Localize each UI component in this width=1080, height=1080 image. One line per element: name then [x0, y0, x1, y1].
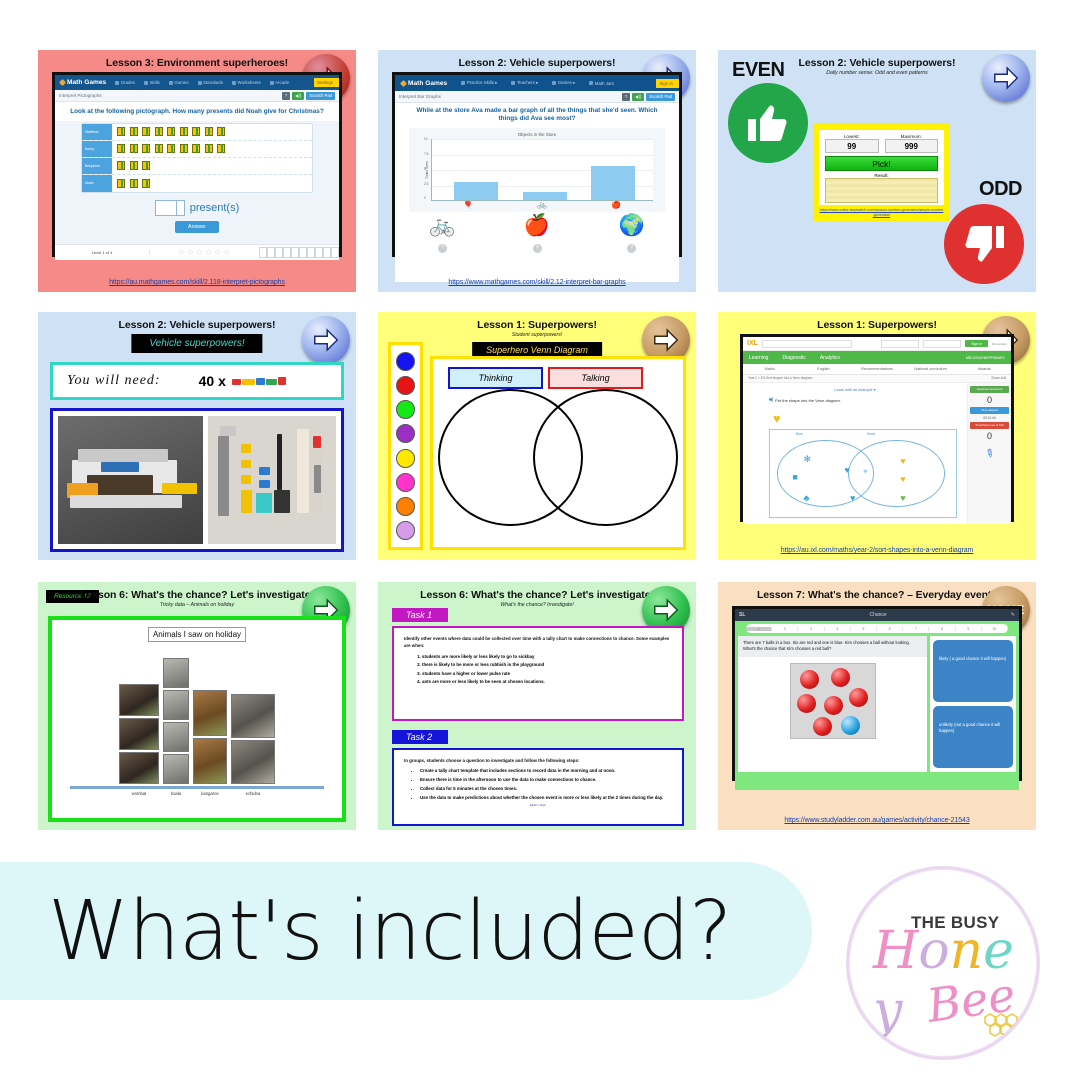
studyladder-screenshot: SL Chance ✎ 1 2 3 4 5 6 7 8 9 1 [732, 606, 1022, 781]
swatch-red[interactable] [396, 376, 415, 395]
swatch-yellow[interactable] [396, 449, 415, 468]
source-url[interactable]: https://au.ixl.com/maths/year-2/sort-sha… [718, 547, 1036, 554]
venn-label-thinking: Thinking [448, 367, 543, 389]
answer-input[interactable] [155, 200, 185, 216]
skill-name: Interpret Pictographs [59, 93, 102, 98]
answer-option-likely[interactable]: likely ( a good chance it will happen) [933, 640, 1013, 702]
row-icons [112, 127, 225, 136]
window-title: Chance [745, 612, 1010, 618]
mathgames-navbar: Math Games Grades Skills Games Standards… [55, 75, 339, 90]
pictograph-row: Benjamin [82, 158, 312, 175]
even-label: EVEN [732, 59, 784, 82]
bar-chart: Objects in the Store Times Seen 10 7.5 5… [409, 128, 665, 212]
task1-intro: Identify other events where data could b… [404, 636, 672, 650]
choice-marker-icon[interactable]: ? [438, 244, 447, 253]
choice-marker-icon[interactable]: ? [533, 244, 542, 253]
next-arrow-button[interactable] [982, 54, 1030, 102]
nav-games[interactable]: Games [169, 80, 189, 85]
column-echidna [231, 694, 275, 784]
studyladder-body: 1 2 3 4 5 6 7 8 9 10 There are 7 balls i… [735, 621, 1019, 790]
ixl-question-area: Learn with an example ▾ Put the shape in… [743, 383, 1011, 524]
source-url[interactable]: https://www.mathgames.com/skill/2.12-int… [378, 279, 696, 286]
tool-pills: ? ◀)) Scratch Pad [622, 93, 675, 101]
nav-skills[interactable]: Skills [144, 80, 160, 85]
task1-box: Identify other events where data could b… [392, 626, 684, 721]
source-url[interactable]: https://au.mathgames.com/skill/2.118-int… [38, 279, 356, 286]
list-item: Create a tally chart template that inclu… [420, 768, 672, 774]
learn-with-example-link[interactable]: Learn with an example ▾ [743, 387, 967, 392]
lego-bricks-icon [232, 377, 286, 385]
time-elapsed-label: Time elapsed [970, 407, 1009, 414]
page-selector[interactable]: 1 2 3 4 5 6 7 8 9 10 [746, 624, 1008, 633]
list-item: Collect data for 5 minutes at the chosen… [420, 786, 672, 792]
materials-label: You will need: [67, 373, 161, 389]
answer-row: present(s) [55, 200, 339, 216]
help-icon[interactable]: ? [282, 92, 290, 100]
list-item: Use the data to make predictions about w… [420, 795, 672, 801]
account-name[interactable]: MELBOURNEPRIMARY [966, 356, 1005, 360]
lego-vehicle-photo [58, 416, 203, 544]
nav-learning[interactable]: Learning [749, 355, 768, 361]
list-item: ants are more or less likely to be seen … [422, 679, 672, 684]
task2-intro: In groups, students choose a question to… [404, 758, 672, 765]
page-item[interactable]: 8 [929, 627, 955, 631]
bar-bicycle [523, 192, 567, 200]
task2-list: Create a tally chart template that inclu… [420, 768, 672, 801]
ixl-sidebar: Questions answered 0 Time elapsed 00 01 … [967, 383, 1011, 524]
pictograph: Matthew Avery Benjamin [81, 123, 313, 193]
nav-diagnostic[interactable]: Diagnostic [782, 355, 805, 361]
answer-button[interactable]: Answer [175, 221, 219, 233]
tab-english[interactable]: English [797, 367, 851, 371]
remember-checkbox[interactable]: Remember [992, 342, 1007, 346]
question-text: While at the store Ava made a bar graph … [395, 103, 679, 124]
answer-choices: 🚲 🍎 🌍 [395, 214, 679, 238]
lego-photos [50, 408, 344, 552]
signin-button[interactable]: Sign in [965, 340, 988, 347]
result-display [825, 178, 938, 203]
task1-tab: Task 1 [392, 608, 448, 622]
answer-unit: present(s) [190, 202, 240, 214]
tab-maths[interactable]: Maths [743, 367, 797, 371]
time-elapsed-value: 00 01 44 [970, 416, 1009, 420]
nav-standards[interactable]: Standards [198, 80, 224, 85]
ixl-subject-tabs: Maths English Recommendations National c… [743, 364, 1011, 375]
questions-answered-value: 0 [970, 395, 1009, 405]
shape-square-icon[interactable]: ■ [792, 472, 797, 482]
card-lesson2-bargraph: Lesson 2: Vehicle superpowers! Math Game… [378, 50, 696, 292]
swatch-magenta[interactable] [396, 473, 415, 492]
share-skill-link[interactable]: Share skill [991, 376, 1006, 380]
list-item: Ensure there is time in the afternoon to… [420, 777, 672, 783]
nav-practice-skills[interactable]: Practice Skills ▸ [461, 80, 497, 86]
maximum-input[interactable]: 999 [885, 139, 939, 153]
page-item[interactable]: 7 [903, 627, 929, 631]
brand-logo: THE BUSY Honey Bee [846, 866, 1040, 1060]
label-kangaroo: kangaroo [193, 791, 227, 796]
thumbs-up-icon [728, 83, 808, 163]
search-input[interactable] [762, 340, 852, 348]
shape-heart-yellow-icon[interactable]: ♥ [900, 456, 905, 466]
column-wombat [119, 684, 159, 784]
logo-letter-y: y [873, 981, 902, 1041]
venn-diagram[interactable]: Blue Heart ✻ ■ ♣ ♥ ♥ ♥ ♥ ♥ ♥ [769, 429, 957, 518]
swatch-orange[interactable] [396, 497, 415, 516]
sound-icon[interactable]: ◀)) [632, 93, 644, 101]
x-axis [70, 786, 324, 789]
lego-parts-photo [208, 416, 336, 544]
row-label: Avery [82, 141, 112, 157]
scratch-pad-button[interactable]: Scratch Pad [306, 92, 335, 100]
ixl-screenshot: IXL Sign in Remember Learning Diagnostic… [740, 334, 1014, 522]
venn-circle-right [533, 389, 678, 526]
mathgames-screenshot: Math Games Grades Skills Games Standards… [52, 72, 342, 257]
mathgames-logo: Math Games [401, 80, 447, 87]
shape-snowflake-icon[interactable]: ✻ [803, 454, 811, 465]
pictograph-row: Avery [82, 141, 312, 158]
bar-apple [591, 166, 635, 200]
instruction-text: Put the shape into the Venn diagram. [769, 397, 967, 403]
nav-grades[interactable]: Grades [115, 80, 135, 85]
shape-heart-green-icon[interactable]: ♥ [900, 493, 905, 503]
credit-text: Edwin's Team [404, 804, 672, 807]
settings-button[interactable]: Settings [314, 78, 339, 87]
question-panel: There are 7 balls in a box. Six are red … [738, 636, 927, 772]
page-item[interactable]: 2 [772, 627, 798, 631]
shape-heart-yellow-icon[interactable]: ♥ [900, 474, 905, 484]
smartscore-label: SmartScore out of 100 [970, 422, 1009, 429]
list-item: students are more likely or less likely … [422, 654, 672, 659]
logo-letter-o: o [918, 921, 949, 981]
question-text: There are 7 balls in a box. Six are red … [738, 636, 927, 657]
tool-pills: ? ◀)) Scratch Pad [282, 92, 335, 100]
row-label: Noah [82, 175, 112, 192]
task1-list: students are more likely or less likely … [422, 654, 672, 685]
nav-arcade[interactable]: Arcade [270, 80, 289, 85]
card-lesson1-ixl: Lesson 1: Superpowers! IXL Sign in Remem… [718, 312, 1036, 560]
chart-title: Animals I saw on holiday [148, 627, 246, 642]
swatch-lavender[interactable] [396, 521, 415, 540]
card-lesson1-venn-worksheet: Lesson 1: Superpowers! Student superpowe… [378, 312, 696, 560]
honeycomb-icon [979, 1009, 1021, 1041]
banner-heading: What's included? [48, 884, 731, 979]
logo-letter-h: H [873, 921, 918, 981]
skill-bar: Interpret Bar Graphs ? ◀)) Scratch Pad [395, 91, 679, 103]
sound-icon[interactable]: ◀)) [292, 92, 304, 100]
task2-tab: Task 2 [392, 730, 448, 744]
venn-diagram: Thinking Talking [430, 356, 686, 550]
row-icons [112, 161, 150, 170]
column-koala [163, 658, 189, 784]
source-url[interactable]: https://www.studyladder.com.au/games/act… [718, 817, 1036, 824]
pictograph-frame: Animals I saw on holiday [48, 616, 346, 822]
y-tick: 5 [424, 167, 426, 171]
black-banner: Vehicle superpowers! [131, 334, 262, 353]
x-tick-bicycle: 🚲 [505, 201, 579, 210]
nav-worksheets[interactable]: Worksheets [232, 80, 261, 85]
page-item[interactable]: 10 [982, 627, 1008, 631]
page-item[interactable]: 1 [746, 627, 772, 631]
column-kangaroo [193, 690, 227, 784]
y-tick: 0 [424, 196, 426, 200]
question-text: Look at the following pictograph. How ma… [55, 102, 339, 121]
list-item: there is likely to be more or less rubbi… [422, 662, 672, 667]
poster: Lesson 3: Environment superheroes! Math … [0, 0, 1080, 1080]
row-label: Benjamin [82, 158, 112, 174]
list-item: students have a higher or lower pulse ra… [422, 671, 672, 676]
shape-heart-lightblue-icon[interactable]: ♥ [863, 467, 868, 476]
mathgames-logo: Math Games [60, 79, 106, 86]
footer-bar: Level 1 of 4 ☆☆☆☆☆☆ [55, 244, 339, 260]
balls-illustration [790, 663, 876, 739]
draggable-heart-icon[interactable]: ♥ [773, 411, 781, 426]
signin-button[interactable]: Sign In [656, 79, 679, 88]
choice-markers: ? ? ? [395, 236, 679, 254]
nav-analytics[interactable]: Analytics [820, 355, 840, 361]
card-lesson3-pictograph: Lesson 3: Environment superheroes! Math … [38, 50, 356, 292]
page-item[interactable]: 6 [877, 627, 903, 631]
x-axis-labels: wombat koala kangaroo echidna [56, 791, 338, 796]
mathgames-screenshot: Math Games Practice Skills ▸ Teachers ▸ … [392, 72, 682, 257]
shape-heart-blue-icon[interactable]: ♥ [850, 493, 855, 503]
breadcrumb: Year 2 > P.6 Sort shapes into a Venn dia… [743, 375, 1011, 383]
odd-label: ODD [979, 178, 1022, 201]
card-lesson6-tasks: Lesson 6: What's the chance? Let's inves… [378, 582, 696, 830]
swatch-blue[interactable] [396, 352, 415, 371]
venn-label-talking: Talking [548, 367, 643, 389]
label-koala: koala [163, 791, 189, 796]
mathgames-navbar: Math Games Practice Skills ▸ Teachers ▸ … [395, 75, 679, 91]
y-tick: 7.5 [424, 152, 428, 156]
card-lesson2-lego: Lesson 2: Vehicle superpowers! Vehicle s… [38, 312, 356, 560]
card-lesson7-studyladder: Lesson 7: What's the chance? – Everyday … [718, 582, 1036, 830]
page-item[interactable]: 5 [851, 627, 877, 631]
label-echidna: echidna [231, 791, 275, 796]
source-url[interactable]: https://www.online-stopwatch.com/random-… [819, 208, 944, 217]
pictograph-row: Noah [82, 175, 312, 192]
ixl-logo: IXL [747, 340, 758, 347]
skill-bar: Interpret Pictographs ? ◀)) Scratch Pad [55, 90, 339, 102]
card-grid: Lesson 3: Environment superheroes! Math … [38, 50, 1046, 840]
next-arrow-button[interactable] [302, 316, 350, 364]
row-icons [112, 179, 150, 188]
pictograph-row: Matthew [82, 124, 312, 141]
choice-apple-icon[interactable]: 🍎 [490, 214, 585, 238]
choice-marker-icon[interactable]: ? [627, 244, 636, 253]
username-field[interactable] [881, 340, 919, 348]
choice-bicycle-icon[interactable]: 🚲 [395, 214, 490, 238]
row-icons [112, 144, 225, 153]
password-field[interactable] [923, 340, 961, 348]
nav-games[interactable]: Games ▸ [552, 80, 575, 86]
level-text: Level 1 of 4 [55, 250, 150, 255]
stars-icon: ☆☆☆☆☆☆ [150, 247, 259, 258]
answer-option-unlikely[interactable]: unlikely (not a good chance it will happ… [933, 706, 1013, 768]
x-axis-icons: 🎈 🚲 🍎 [431, 201, 653, 210]
pencil-icon[interactable]: ✎ [970, 437, 1009, 470]
tab-awards[interactable]: Awards [957, 367, 1011, 371]
pencil-icon[interactable]: ✎ [1011, 612, 1015, 618]
questions-answered-label: Questions answered [970, 386, 1009, 393]
page-item[interactable]: 9 [956, 627, 982, 631]
y-tick: 10 [424, 137, 428, 141]
plot-area: Times Seen 10 7.5 5 2.5 0 [431, 139, 653, 201]
window-titlebar: SL Chance ✎ [735, 609, 1019, 621]
swatch-green[interactable] [396, 400, 415, 419]
card-lesson6-animals: Resource 12 Lesson 6: What's the chance?… [38, 582, 356, 830]
shape-heart-blue-icon[interactable]: ♥ [844, 465, 849, 475]
number-generator-widget: Lowest: 99 Maximum: 999 Pick! Result: ht… [813, 123, 950, 221]
mathgames-body: While at the store Ava made a bar graph … [395, 103, 679, 282]
label-wombat: wombat [119, 791, 159, 796]
progress-cells [259, 247, 339, 258]
mathgames-body: Look at the following pictograph. How ma… [55, 102, 339, 260]
page-item[interactable]: 3 [798, 627, 824, 631]
help-icon[interactable]: ? [622, 93, 630, 101]
shape-clover-icon[interactable]: ♣ [803, 493, 809, 503]
venn-label-heart: Heart [867, 432, 875, 436]
page-item[interactable]: 4 [825, 627, 851, 631]
card-lesson2-oddeven: Lesson 2: Vehicle superpowers! Daily num… [718, 50, 1036, 292]
x-tick-balloon: 🎈 [431, 201, 505, 210]
scratch-pad-button[interactable]: Scratch Pad [646, 93, 675, 101]
swatch-purple[interactable] [396, 424, 415, 443]
skill-name: Interpret Bar Graphs [399, 94, 441, 99]
tab-national-curriculum[interactable]: National curriculum [904, 367, 958, 371]
lowest-input[interactable]: 99 [825, 139, 879, 153]
answer-panel: likely ( a good chance it will happen) u… [930, 636, 1016, 772]
colour-palette[interactable] [388, 342, 423, 550]
thumbs-down-icon [944, 204, 1024, 284]
tab-recommendations[interactable]: Recommendations [850, 367, 904, 371]
nav-teachers[interactable]: Teachers ▸ [511, 80, 538, 86]
venn-label-blue: Blue [796, 432, 803, 436]
chart-title: Objects in the Store [415, 132, 659, 137]
task2-box: In groups, students choose a question to… [392, 748, 684, 826]
ixl-main-nav: Learning Diagnostic Analytics MELBOURNEP… [743, 351, 1011, 364]
choice-globe-icon[interactable]: 🌍 [584, 214, 679, 238]
pictograph-columns [56, 646, 338, 784]
materials-box: You will need: 40 x [50, 362, 344, 400]
pick-button[interactable]: Pick! [825, 156, 938, 171]
row-label: Matthew [82, 124, 112, 140]
materials-quantity: 40 x [199, 373, 226, 389]
bar-balloon [454, 182, 498, 200]
x-tick-apple: 🍎 [579, 201, 653, 210]
nav-math-jam[interactable]: Math Jam [589, 81, 614, 86]
y-tick: 2.5 [424, 182, 428, 186]
speaker-icon[interactable] [769, 397, 774, 402]
whats-included-banner: What's included? [0, 862, 812, 1000]
ixl-topbar: IXL Sign in Remember [743, 337, 1011, 351]
